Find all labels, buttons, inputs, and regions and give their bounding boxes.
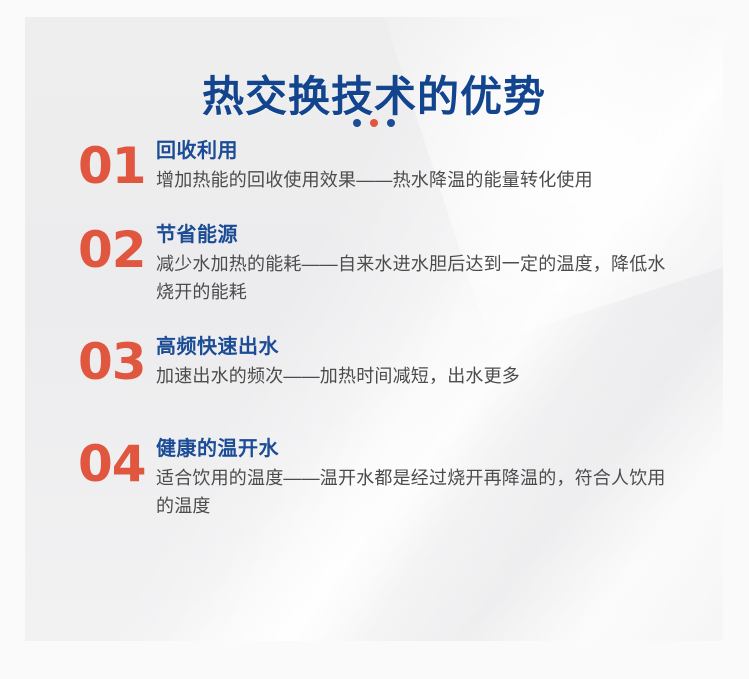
item-description: 增加热能的回收使用效果——热水降温的能量转化使用: [156, 166, 678, 194]
item-description: 适合饮用的温度——温开水都是经过烧开再降温的，符合人饮用的温度: [156, 464, 678, 520]
item-content: 健康的温开水 适合饮用的温度——温开水都是经过烧开再降温的，符合人饮用的温度: [156, 436, 723, 520]
dot-center-icon: [370, 119, 378, 127]
list-item: 03 高频快速出水 加速出水的频次——加热时间减短，出水更多: [25, 334, 723, 390]
dot-left-icon: [353, 119, 361, 127]
item-heading: 高频快速出水: [156, 334, 678, 361]
list-item: 01 回收利用 增加热能的回收使用效果——热水降温的能量转化使用: [25, 138, 723, 194]
feature-list: 01 回收利用 增加热能的回收使用效果——热水降温的能量转化使用 02 节省能源…: [25, 138, 723, 520]
dot-right-icon: [387, 119, 395, 127]
title-divider-dots: [25, 119, 723, 127]
item-number: 03: [78, 338, 156, 386]
item-content: 节省能源 减少水加热的能耗——自来水进水胆后达到一定的温度，降低水烧开的能耗: [156, 222, 723, 306]
item-heading: 健康的温开水: [156, 436, 678, 463]
page-title: 热交换技术的优势: [25, 72, 723, 122]
list-item: 04 健康的温开水 适合饮用的温度——温开水都是经过烧开再降温的，符合人饮用的温…: [25, 436, 723, 520]
item-number: 02: [78, 226, 156, 274]
content-panel: 热交换技术的优势 01 回收利用 增加热能的回收使用效果——热水降温的能量转化使…: [25, 17, 723, 641]
item-description: 减少水加热的能耗——自来水进水胆后达到一定的温度，降低水烧开的能耗: [156, 250, 678, 306]
item-content: 高频快速出水 加速出水的频次——加热时间减短，出水更多: [156, 334, 723, 390]
item-heading: 节省能源: [156, 222, 678, 249]
item-description: 加速出水的频次——加热时间减短，出水更多: [156, 362, 678, 390]
item-content: 回收利用 增加热能的回收使用效果——热水降温的能量转化使用: [156, 138, 723, 194]
promo-poster: 热交换技术的优势 01 回收利用 增加热能的回收使用效果——热水降温的能量转化使…: [0, 0, 749, 679]
item-number: 01: [78, 142, 156, 190]
item-number: 04: [78, 440, 156, 488]
list-item: 02 节省能源 减少水加热的能耗——自来水进水胆后达到一定的温度，降低水烧开的能…: [25, 222, 723, 306]
item-heading: 回收利用: [156, 138, 678, 165]
